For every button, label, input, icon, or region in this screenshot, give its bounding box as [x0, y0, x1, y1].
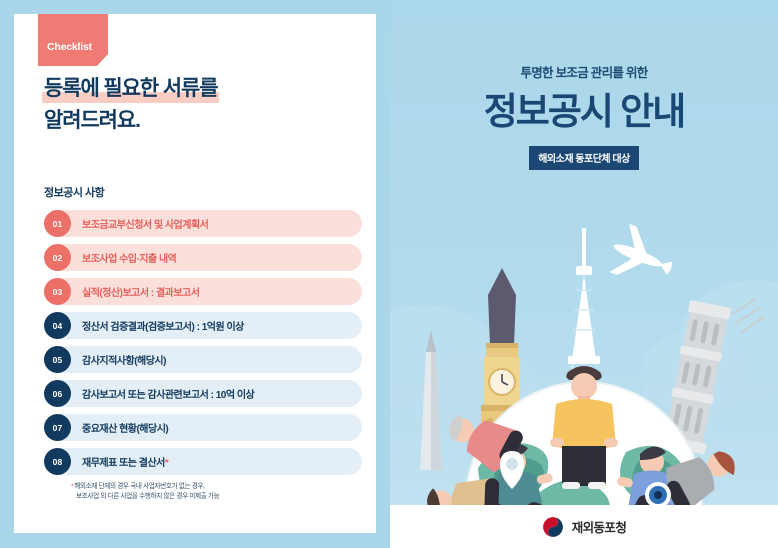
item-number-badge: 07 — [44, 414, 71, 441]
footnote-marker: * — [71, 483, 73, 490]
item-number-badge: 05 — [44, 346, 71, 373]
list-item[interactable]: 06 감사보고서 또는 감사관련보고서 : 10억 이상 — [44, 380, 362, 407]
item-number-badge: 06 — [44, 380, 71, 407]
item-label: 감사보고서 또는 감사관련보고서 : 10억 이상 — [82, 386, 254, 401]
agency-name: 재외동포청 — [572, 517, 627, 536]
footnote-line-1: 해외소재 단체의 경우 국내 사업자번호가 없는 경우, — [74, 483, 204, 490]
title-panel: 투명한 보조금 관리를 위한 정보공시 안내 해외소재 동포단체 대상 — [390, 0, 778, 548]
list-item[interactable]: 03 실적(정산)보고서 : 결과보고서 — [44, 278, 362, 305]
item-number-badge: 04 — [44, 312, 71, 339]
list-item[interactable]: 02 보조사업 수입·지출 내역 — [44, 244, 362, 271]
headline-line-1: 등록에 필요한 서류를 — [44, 74, 217, 104]
footnote: *해외소재 단체의 경우 국내 사업자번호가 없는 경우, 보조사업 외 다른 … — [71, 482, 361, 502]
document-list: 01 보조금교부신청서 및 사업계획서 02 보조사업 수입·지출 내역 03 … — [44, 210, 362, 482]
list-item[interactable]: 08 재무제표 또는 결산서* — [44, 448, 362, 475]
list-item[interactable]: 07 중요재산 현황(해당시) — [44, 414, 362, 441]
item-number-badge: 01 — [44, 210, 71, 237]
list-item[interactable]: 01 보조금교부신청서 및 사업계획서 — [44, 210, 362, 237]
world-illustration — [390, 0, 778, 548]
taeguk-icon — [542, 516, 564, 538]
obelisk-icon — [420, 330, 442, 470]
headline-block: 등록에 필요한 서류를 알려드려요. — [44, 74, 354, 136]
item-label: 감사지적사항(해당시) — [82, 352, 166, 367]
headline-line-2: 알려드려요. — [44, 106, 354, 136]
footnote-line-2: 보조사업 외 다른 사업을 수행하지 않은 경우 미제출 가능 — [71, 492, 361, 502]
checklist-ribbon: Checklist — [38, 14, 108, 66]
airplane-icon — [604, 222, 681, 293]
checklist-card: Checklist 등록에 필요한 서류를 알려드려요. 정보공시 사항 01 … — [14, 14, 376, 533]
item-label: 재무제표 또는 결산서* — [82, 454, 168, 469]
item-label: 실적(정산)보고서 : 결과보고서 — [82, 284, 199, 299]
item-label: 정산서 검증결과(검증보고서) : 1억원 이상 — [82, 318, 244, 333]
item-number-badge: 02 — [44, 244, 71, 271]
item-label: 보조금교부신청서 및 사업계획서 — [82, 216, 208, 231]
agency-footer: 재외동포청 — [390, 505, 778, 548]
item-asterisk: * — [165, 458, 168, 469]
item-number-badge: 03 — [44, 278, 71, 305]
checklist-ribbon-label: Checklist — [47, 41, 92, 53]
item-label: 중요재산 현황(해당시) — [82, 420, 168, 435]
section-label: 정보공시 사항 — [44, 184, 104, 200]
list-item[interactable]: 04 정산서 검증결과(검증보고서) : 1억원 이상 — [44, 312, 362, 339]
item-label-text: 재무제표 또는 결산서 — [82, 458, 165, 469]
poster-root: Checklist 등록에 필요한 서류를 알려드려요. 정보공시 사항 01 … — [0, 0, 778, 548]
item-label: 보조사업 수입·지출 내역 — [82, 250, 176, 265]
item-number-badge: 08 — [44, 448, 71, 475]
list-item[interactable]: 05 감사지적사항(해당시) — [44, 346, 362, 373]
